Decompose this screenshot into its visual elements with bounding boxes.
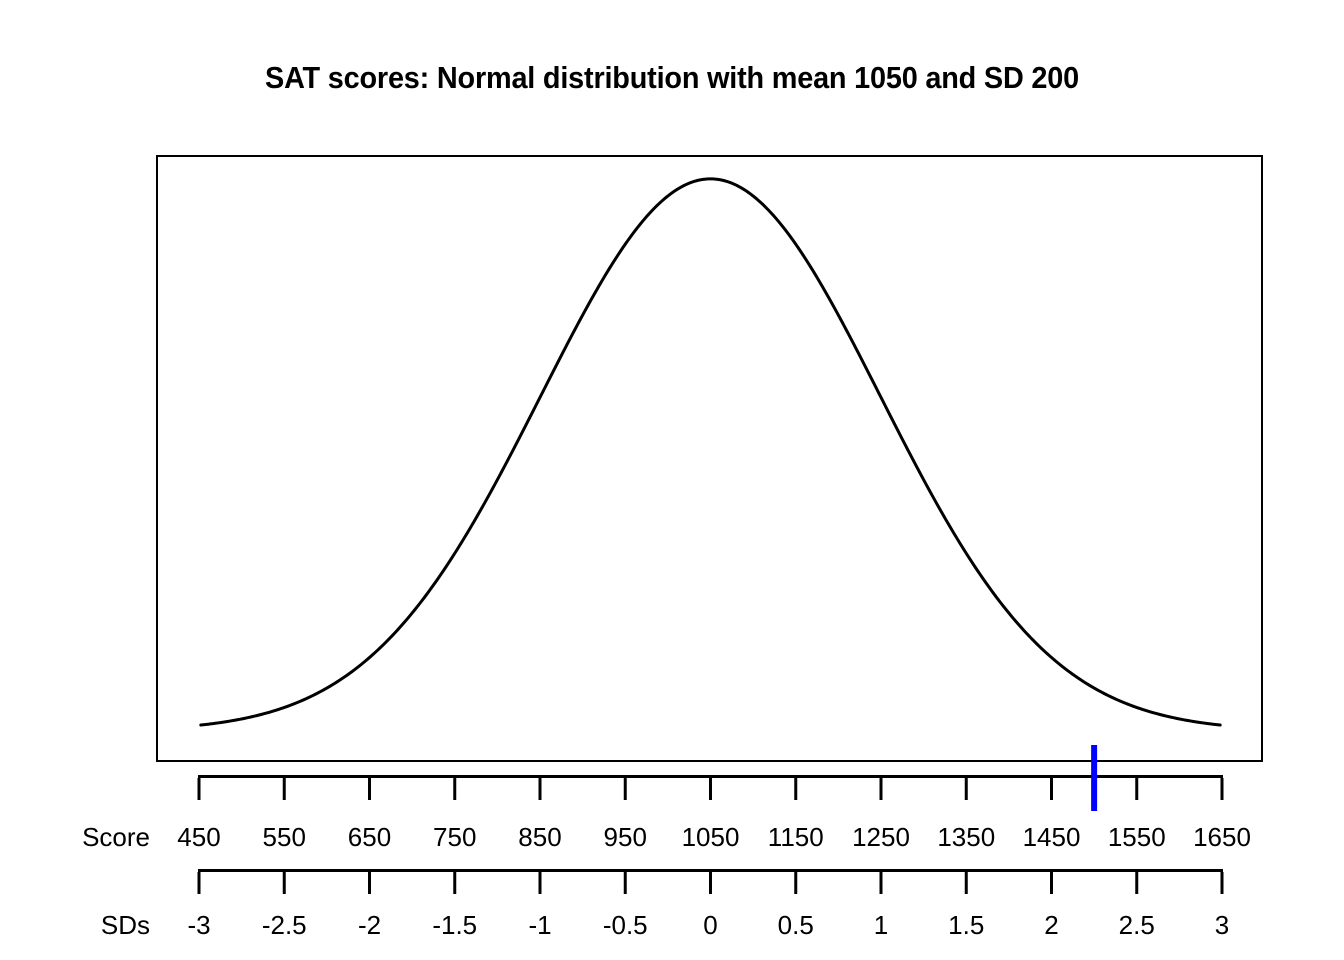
tick-label: 1350 xyxy=(937,820,995,854)
axis-tick xyxy=(368,778,371,800)
axis-tick xyxy=(709,778,712,800)
tick-label: 550 xyxy=(263,820,306,854)
axis-tick xyxy=(624,872,627,894)
tick-label: 3 xyxy=(1215,908,1229,942)
axis-tick xyxy=(1221,778,1224,800)
score-axis xyxy=(198,775,1224,800)
axis-tick xyxy=(794,872,797,894)
tick-label: -0.5 xyxy=(603,908,648,942)
axis-tick xyxy=(1050,872,1053,894)
axis-tick xyxy=(794,778,797,800)
tick-label: 1.5 xyxy=(948,908,984,942)
chart-figure: SAT scores: Normal distribution with mea… xyxy=(0,0,1344,960)
sds-tick-labels: -3-2.5-2-1.5-1-0.500.511.522.53 xyxy=(0,908,1344,942)
axis-tick xyxy=(1221,872,1224,894)
axis-tick xyxy=(880,872,883,894)
density-curve-svg xyxy=(158,157,1261,760)
axis-tick xyxy=(1135,872,1138,894)
tick-label: 1 xyxy=(874,908,888,942)
tick-label: 950 xyxy=(604,820,647,854)
tick-label: 1650 xyxy=(1193,820,1251,854)
tick-label: 0 xyxy=(703,908,717,942)
tick-label: 1150 xyxy=(768,820,824,854)
tick-label: 1450 xyxy=(1023,820,1081,854)
axis-tick xyxy=(283,872,286,894)
axis-tick xyxy=(453,778,456,800)
tick-label: 1250 xyxy=(852,820,910,854)
tick-label: 2 xyxy=(1044,908,1058,942)
tick-label: 750 xyxy=(433,820,476,854)
normal-density-curve xyxy=(201,179,1220,725)
tick-label: 0.5 xyxy=(778,908,814,942)
tick-label: 850 xyxy=(518,820,561,854)
axis-tick xyxy=(624,778,627,800)
axis-tick xyxy=(965,778,968,800)
score-tick-labels: 4505506507508509501050115012501350145015… xyxy=(0,820,1344,854)
axis-tick xyxy=(539,872,542,894)
chart-title: SAT scores: Normal distribution with mea… xyxy=(47,58,1297,98)
axis-tick xyxy=(453,872,456,894)
tick-label: -2 xyxy=(358,908,381,942)
axis-tick xyxy=(198,872,201,894)
tick-label: -2.5 xyxy=(262,908,307,942)
tick-label: 1050 xyxy=(682,820,740,854)
plot-panel xyxy=(156,155,1263,762)
tick-label: -1 xyxy=(528,908,551,942)
tick-label: 2.5 xyxy=(1119,908,1155,942)
tick-label: 1550 xyxy=(1108,820,1166,854)
tick-label: -3 xyxy=(187,908,210,942)
sds-axis xyxy=(198,869,1224,894)
tick-label: 450 xyxy=(177,820,220,854)
axis-tick xyxy=(198,778,201,800)
axis-tick xyxy=(965,872,968,894)
axis-tick xyxy=(880,778,883,800)
axis-tick xyxy=(539,778,542,800)
axis-tick xyxy=(709,872,712,894)
axis-line xyxy=(198,775,1223,778)
axis-tick xyxy=(1135,778,1138,800)
axis-line xyxy=(198,869,1223,872)
tick-label: 650 xyxy=(348,820,391,854)
axis-tick xyxy=(283,778,286,800)
axis-tick xyxy=(368,872,371,894)
tick-label: -1.5 xyxy=(432,908,477,942)
axis-tick xyxy=(1050,778,1053,800)
